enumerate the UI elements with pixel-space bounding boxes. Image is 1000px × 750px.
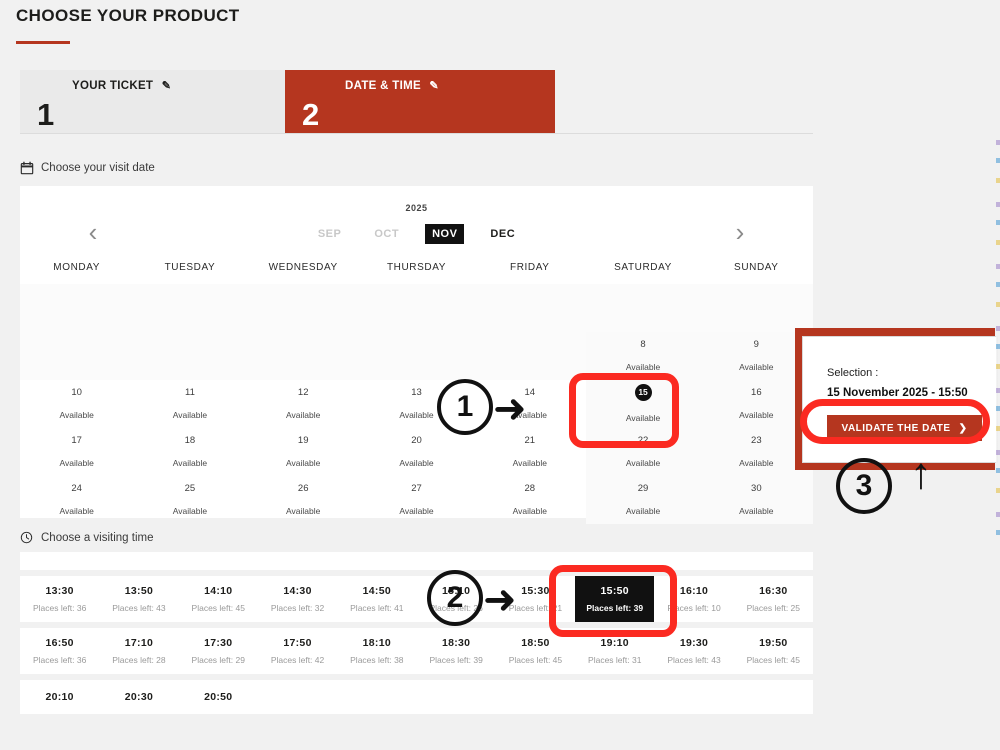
time-slot-17-50[interactable]: 17:50Places left: 42 [258,628,337,674]
calendar-week-row: 24Available25Available26Available27Avail… [20,476,813,524]
calendar-day-number: 23 [751,436,762,446]
calendar-year: 2025 [20,203,813,213]
calendar-week-row: 10Available11Available12Available13Avail… [20,380,813,428]
time-slot-20-30[interactable]: 20:30 [99,680,178,714]
calendar-day-empty [360,332,473,380]
calendar-day-number: 14 [524,388,535,398]
calendar-day-availability: Available [739,411,773,420]
time-slot-places-left: Places left: 26 [429,603,482,613]
time-slot-places-left: Places left: 43 [112,603,165,613]
step-1-text: YOUR TICKET [72,80,153,92]
time-slot-13-50[interactable]: 13:50Places left: 43 [99,576,178,622]
calendar-day-availability: Available [626,507,660,516]
time-slot-14-50[interactable]: 14:50Places left: 41 [337,576,416,622]
step-tab-date-and-time[interactable]: 2 DATE & TIME ✎ [285,70,555,134]
time-slot-time: 19:10 [601,637,629,649]
calendar-day-empty [360,284,473,332]
calendar-day-availability: Available [513,411,547,420]
calendar-day-19[interactable]: 19Available [247,428,360,476]
selection-panel-card: Selection : 15 November 2025 - 15:50 VAL… [802,336,998,463]
calendar-day-availability: Available [173,411,207,420]
step-2-label: DATE & TIME ✎ [345,79,439,92]
time-slot-places-left: Places left: 29 [192,655,245,665]
calendar-day-12[interactable]: 12Available [247,380,360,428]
time-slot-row-1: 13:30Places left: 3613:50Places left: 43… [20,576,813,622]
time-slot-places-left: Places left: 36 [33,655,86,665]
time-slot-time: 15:30 [521,585,549,597]
calendar-day-13[interactable]: 13Available [360,380,473,428]
calendar-day-14[interactable]: 14Available [473,380,586,428]
calendar-day-empty [133,332,246,380]
calendar-day-15[interactable]: 15Available [586,380,699,428]
calendar-day-number: 8 [640,340,645,350]
calendar-day-number: 24 [71,484,82,494]
calendar-day-number: 16 [751,388,762,398]
calendar-day-availability: Available [59,411,93,420]
time-slot-time: 13:50 [125,585,153,597]
time-slot-places-left: Places left: 36 [33,603,86,613]
time-slot-15-30[interactable]: 15:30Places left: 21 [496,576,575,622]
time-slot-18-10[interactable]: 18:10Places left: 38 [337,628,416,674]
calendar-card: 2025 ‹ › SEP OCT NOV DEC MONDAY TUESDAY … [20,186,813,518]
step-1-label: YOUR TICKET ✎ [72,79,171,92]
calendar-caption-text: Choose your visit date [41,162,155,174]
step-tab-your-ticket[interactable]: 1 YOUR TICKET ✎ [20,70,285,134]
time-slot-row-3: 20:1020:3020:50 [20,680,813,714]
time-slot-time: 17:30 [204,637,232,649]
selection-label: Selection : [827,367,878,379]
calendar-day-30[interactable]: 30Available [700,476,813,524]
time-slot-20-50[interactable]: 20:50 [179,680,258,714]
dow-monday: MONDAY [20,262,133,273]
time-slot-time: 17:10 [125,637,153,649]
time-slot-15-50[interactable]: 15:50Places left: 39 [575,576,654,622]
time-caption-text: Choose a visiting time [41,532,154,544]
step-1-number: 1 [37,99,54,130]
time-slot-row-2: 16:50Places left: 3617:10Places left: 28… [20,628,813,674]
time-slot-places-left: Places left: 41 [350,603,403,613]
time-slot-time: 18:10 [363,637,391,649]
time-slot-19-30[interactable]: 19:30Places left: 43 [654,628,733,674]
calendar-day-availability: Available [399,411,433,420]
chevron-right-icon: ❯ [959,423,968,434]
time-slot-places-left: Places left: 10 [667,603,720,613]
title-underline-rule [16,41,70,44]
time-slot-places-left: Places left: 42 [271,655,324,665]
time-slot-places-left: Places left: 28 [112,655,165,665]
calendar-day-28[interactable]: 28Available [473,476,586,524]
time-card-top-spacer [20,552,813,570]
calendar-day-number: 10 [71,388,82,398]
time-slot-places-left: Places left: 45 [509,655,562,665]
time-slot-places-left: Places left: 39 [429,655,482,665]
calendar-day-11[interactable]: 11Available [133,380,246,428]
calendar-day-availability: Available [286,411,320,420]
time-slot-14-30[interactable]: 14:30Places left: 32 [258,576,337,622]
dow-friday: FRIDAY [473,262,586,273]
calendar-day-number: 15 [635,384,652,401]
calendar-day-number: 17 [71,436,82,446]
calendar-day-18[interactable]: 18Available [133,428,246,476]
time-slot-time: 13:30 [45,585,73,597]
calendar-day-empty [473,332,586,380]
calendar-day-availability: Available [399,507,433,516]
time-slot-places-left: Places left: 39 [586,603,643,613]
selection-value: 15 November 2025 - 15:50 [827,387,968,399]
month-tab-nov[interactable]: NOV [425,224,464,244]
dow-saturday: SATURDAY [586,262,699,273]
time-slot-places-left: Places left: 31 [588,655,641,665]
calendar-day-availability: Available [739,363,773,372]
calendar-day-number: 19 [298,436,309,446]
time-slot-places-left: Places left: 32 [271,603,324,613]
time-slot-places-left: Places left: 25 [747,603,800,613]
month-tab-oct[interactable]: OCT [367,224,406,244]
step-2-text: DATE & TIME [345,80,421,92]
calendar-day-availability: Available [173,459,207,468]
calendar-day-27[interactable]: 27Available [360,476,473,524]
calendar-day-availability: Available [626,414,660,423]
time-slot-time: 15:50 [601,585,629,597]
time-slot-places-left: Places left: 45 [747,655,800,665]
month-selector: SEP OCT NOV DEC [20,221,813,247]
calendar-day-number: 29 [638,484,649,494]
calendar-week-row: 8Available9Available [20,332,813,380]
time-slot-time: 20:30 [125,691,153,703]
calendar-day-number: 28 [524,484,535,494]
time-slot-13-30[interactable]: 13:30Places left: 36 [20,576,99,622]
calendar-day-availability: Available [59,459,93,468]
calendar-day-number: 21 [524,436,535,446]
time-slot-time: 19:30 [680,637,708,649]
time-section-caption: Choose a visiting time [20,531,154,545]
time-slot-19-10[interactable]: 19:10Places left: 31 [575,628,654,674]
time-slot-places-left: Places left: 45 [192,603,245,613]
time-slot-time: 17:50 [283,637,311,649]
time-slot-18-50[interactable]: 18:50Places left: 45 [496,628,575,674]
calendar-day-22[interactable]: 22Available [586,428,699,476]
calendar-day-number: 11 [185,388,195,398]
time-slot-time: 16:10 [680,585,708,597]
validate-button-label: VALIDATE THE DATE [842,423,951,434]
time-slot-time: 19:50 [759,637,787,649]
calendar-day-availability: Available [59,507,93,516]
calendar-day-21[interactable]: 21Available [473,428,586,476]
time-slot-16-30[interactable]: 16:30Places left: 25 [734,576,813,622]
time-slot-15-10[interactable]: 15:10Places left: 26 [416,576,495,622]
calendar-day-empty [247,284,360,332]
time-slot-16-10[interactable]: 16:10Places left: 10 [654,576,733,622]
time-slot-time: 16:50 [45,637,73,649]
calendar-day-number: 22 [638,436,649,446]
clock-icon [20,531,34,545]
time-slot-time: 20:50 [204,691,232,703]
time-slot-time: 15:10 [442,585,470,597]
calendar-day-number: 26 [298,484,309,494]
calendar-day-empty [700,284,813,332]
calendar-day-availability: Available [286,459,320,468]
dow-thursday: THURSDAY [360,262,473,273]
calendar-day-availability: Available [739,507,773,516]
time-slot-time: 14:10 [204,585,232,597]
calendar-day-29[interactable]: 29Available [586,476,699,524]
time-slot-card: 13:30Places left: 3613:50Places left: 43… [20,552,813,714]
calendar-day-number: 12 [298,388,309,398]
page-title: CHOOSE YOUR PRODUCT [16,6,240,26]
month-tab-dec[interactable]: DEC [483,224,522,244]
time-slot-places-left: Places left: 38 [350,655,403,665]
pencil-icon[interactable]: ✎ [162,79,172,92]
calendar-day-number: 9 [754,340,759,350]
time-slot-17-30[interactable]: 17:30Places left: 29 [179,628,258,674]
time-slot-time: 18:50 [521,637,549,649]
time-slot-20-10[interactable]: 20:10 [20,680,99,714]
dow-sunday: SUNDAY [700,262,813,273]
time-slot-time: 16:30 [759,585,787,597]
calendar-day-availability: Available [173,507,207,516]
step-tabs: 1 YOUR TICKET ✎ 2 DATE & TIME ✎ [20,70,813,134]
calendar-day-availability: Available [286,507,320,516]
calendar-icon [20,161,34,175]
calendar-day-8[interactable]: 8Available [586,332,699,380]
day-of-week-header-row: MONDAY TUESDAY WEDNESDAY THURSDAY FRIDAY… [20,262,813,273]
calendar-day-empty [586,284,699,332]
calendar-day-10[interactable]: 10Available [20,380,133,428]
step-2-number: 2 [302,99,319,130]
calendar-day-empty [247,332,360,380]
calendar-day-availability: Available [626,459,660,468]
time-slot-17-10[interactable]: 17:10Places left: 28 [99,628,178,674]
steps-divider [20,133,813,134]
calendar-day-availability: Available [513,507,547,516]
time-slot-time: 14:50 [363,585,391,597]
calendar-day-number: 20 [411,436,422,446]
calendar-day-number: 27 [411,484,422,494]
dow-wednesday: WEDNESDAY [247,262,360,273]
time-slot-time: 18:30 [442,637,470,649]
calendar-day-empty [473,284,586,332]
calendar-day-number: 13 [411,388,422,398]
dow-tuesday: TUESDAY [133,262,246,273]
calendar-week-row: 17Available18Available19Available20Avail… [20,428,813,476]
calendar-day-24[interactable]: 24Available [20,476,133,524]
month-tab-sep[interactable]: SEP [311,224,349,244]
calendar-day-25[interactable]: 25Available [133,476,246,524]
time-slot-time: 20:10 [45,691,73,703]
calendar-day-17[interactable]: 17Available [20,428,133,476]
calendar-week-row [20,284,813,332]
calendar-day-empty [20,332,133,380]
calendar-section-caption: Choose your visit date [20,161,155,175]
calendar-grid: 8Available9Available10Available11Availab… [20,284,813,524]
time-slot-14-10[interactable]: 14:10Places left: 45 [179,576,258,622]
calendar-day-empty [133,284,246,332]
offscreen-content-sliver [996,140,1000,540]
calendar-day-availability: Available [626,363,660,372]
calendar-day-number: 25 [185,484,196,494]
selection-panel: Selection : 15 November 2025 - 15:50 VAL… [795,328,1000,473]
calendar-day-availability: Available [513,459,547,468]
calendar-day-availability: Available [739,459,773,468]
time-slot-places-left: Places left: 43 [667,655,720,665]
calendar-day-number: 18 [185,436,196,446]
calendar-day-20[interactable]: 20Available [360,428,473,476]
time-slot-18-30[interactable]: 18:30Places left: 39 [416,628,495,674]
calendar-day-number: 30 [751,484,762,494]
time-slot-19-50[interactable]: 19:50Places left: 45 [734,628,813,674]
calendar-day-empty [20,284,133,332]
validate-the-date-button[interactable]: VALIDATE THE DATE ❯ [827,415,982,441]
time-slot-16-50[interactable]: 16:50Places left: 36 [20,628,99,674]
pencil-icon[interactable]: ✎ [429,79,439,92]
time-slot-places-left: Places left: 21 [509,603,562,613]
time-slot-time: 14:30 [283,585,311,597]
calendar-day-26[interactable]: 26Available [247,476,360,524]
calendar-day-availability: Available [399,459,433,468]
